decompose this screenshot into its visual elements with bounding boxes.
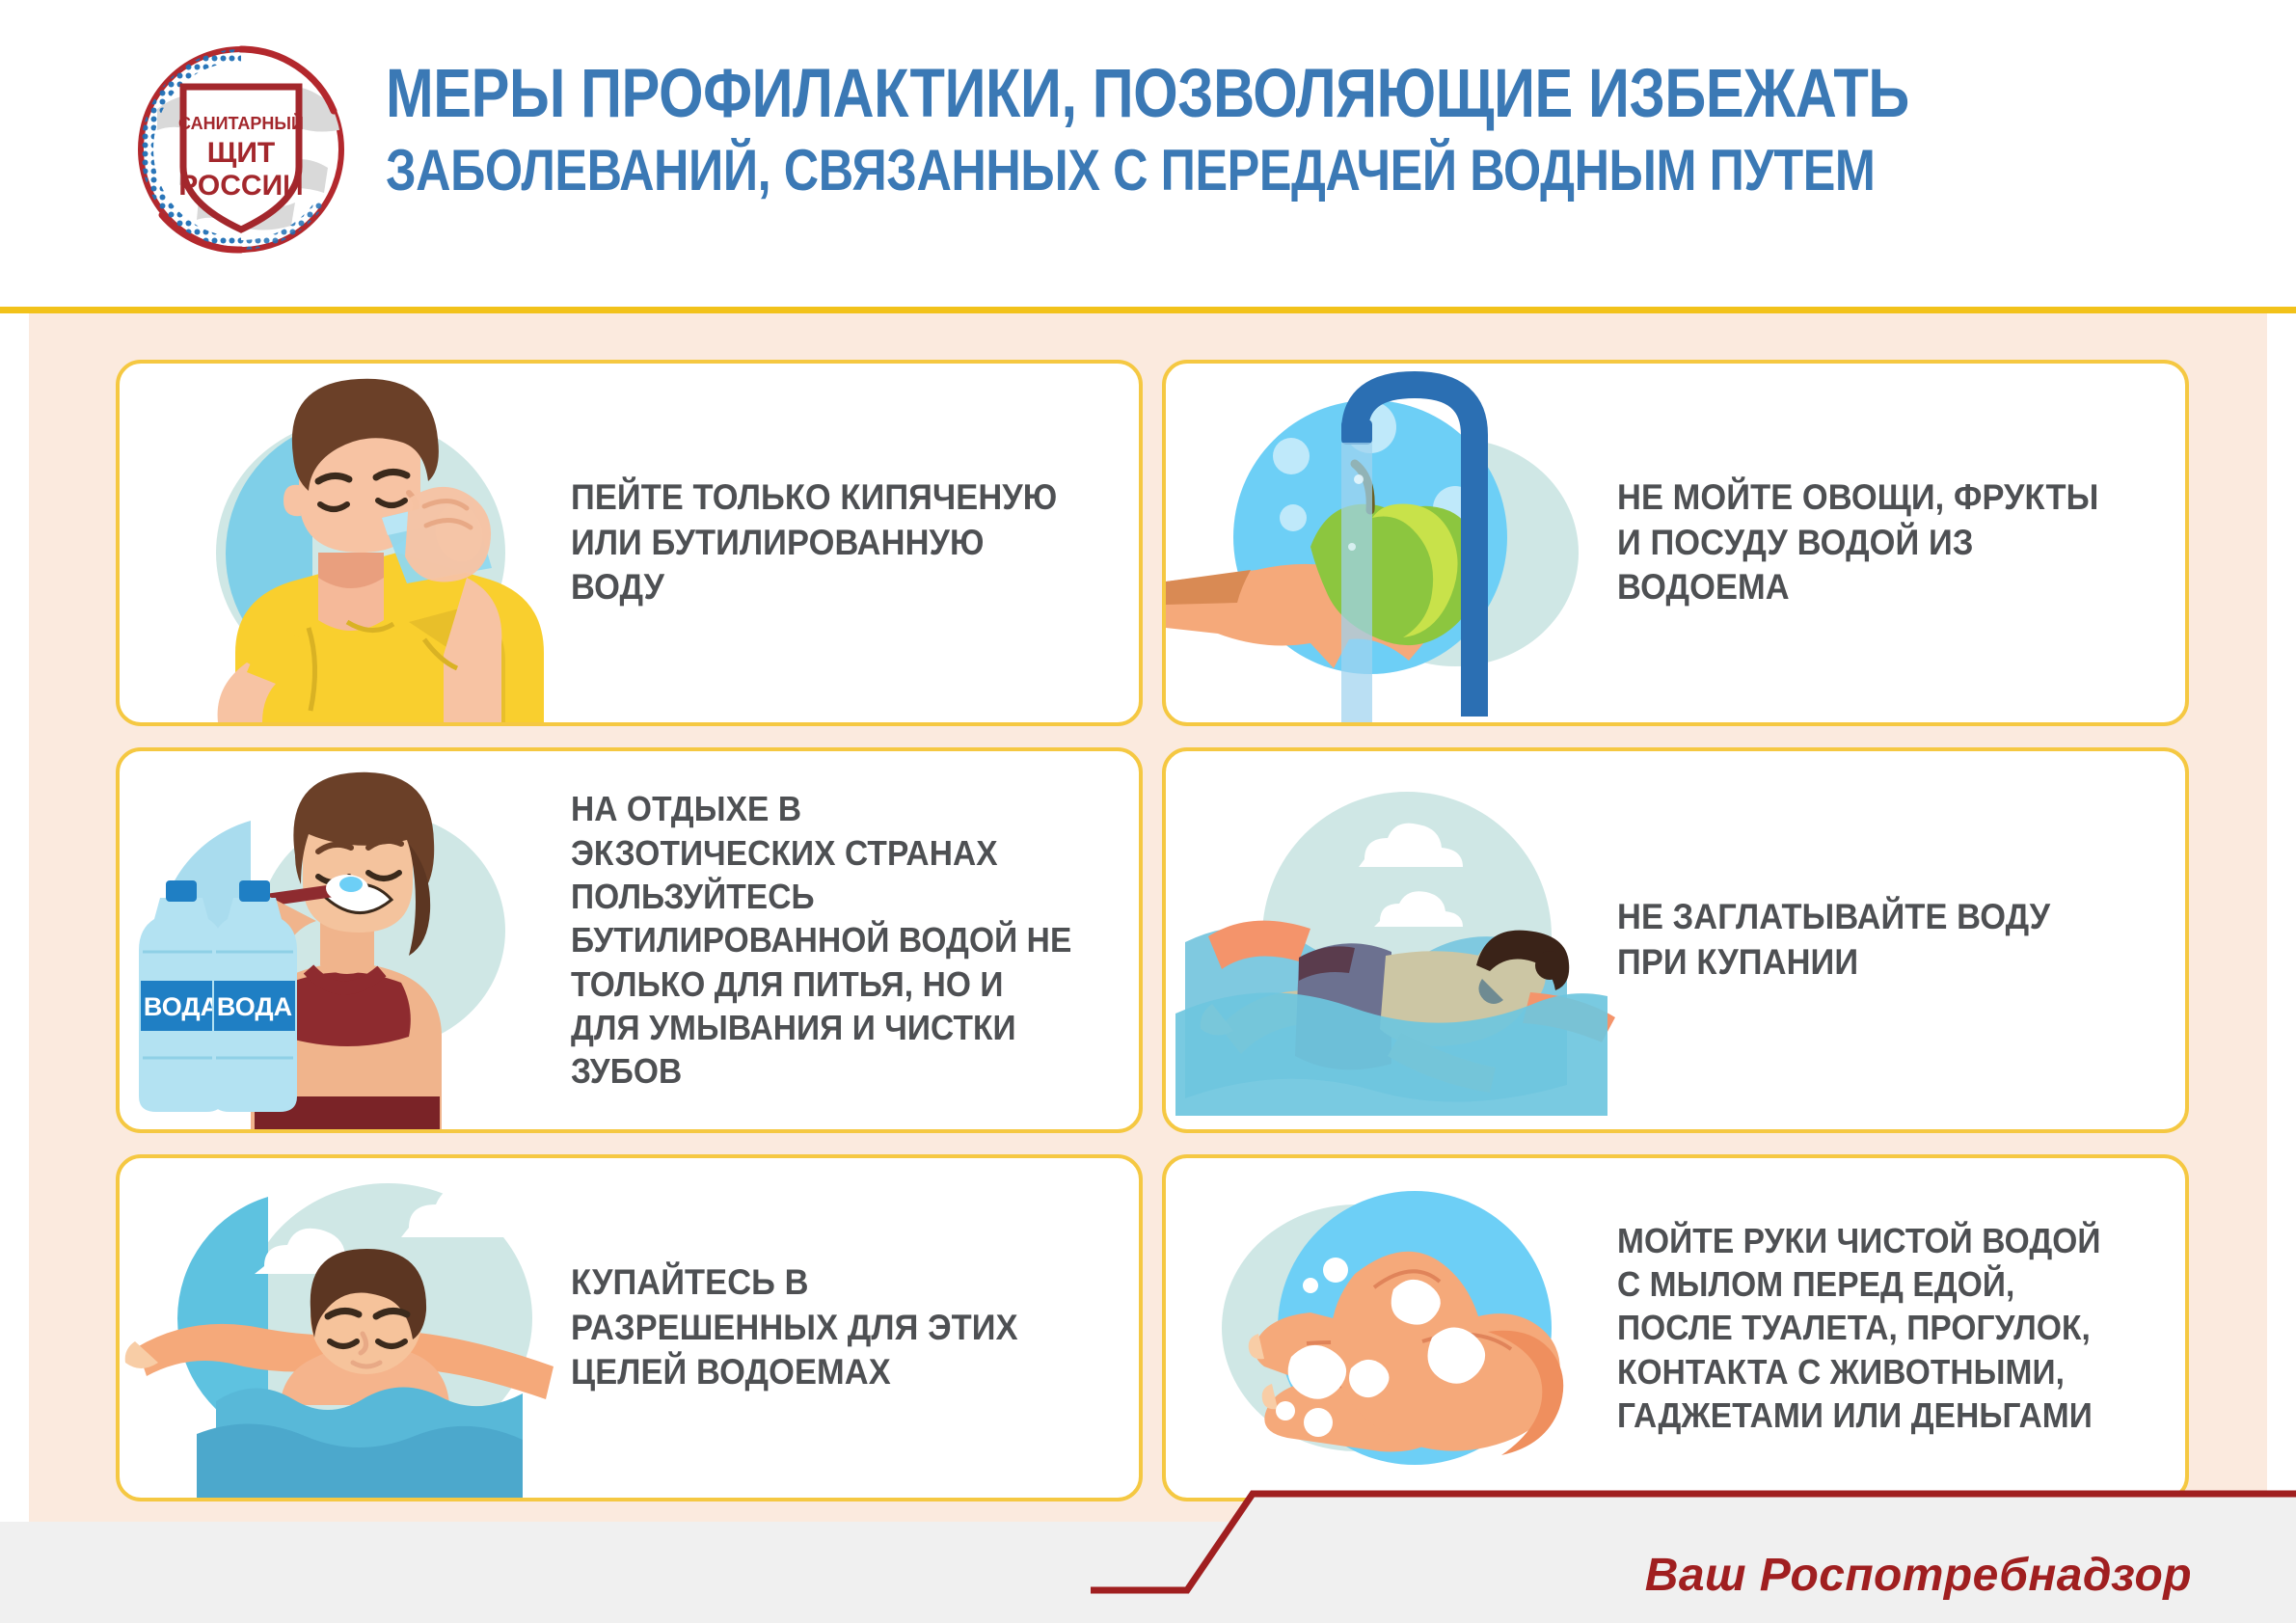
footer-band: Ваш Роспотребнадзор	[0, 1522, 2296, 1623]
bottle-label-1: ВОДА	[144, 992, 219, 1021]
advice-text-5: КУПАЙТЕСЬ В РАЗРЕШЕННЫХ ДЛЯ ЭТИХ ЦЕЛЕЙ В…	[571, 1260, 1099, 1395]
advice-text-4: НЕ ЗАГЛАТЫВАЙТЕ ВОДУ ПРИ КУПАНИИ	[1617, 895, 2146, 985]
poster-header: САНИТАРНЫЙ ЩИТ РОССИИ МЕРЫ ПРОФИЛАКТИКИ,…	[0, 0, 2296, 307]
advice-card-do-not-swallow-water: НЕ ЗАГЛАТЫВАЙТЕ ВОДУ ПРИ КУПАНИИ	[1162, 747, 2189, 1133]
logo-line2: ЩИТ	[207, 137, 275, 169]
footer-brand-text: Ваш Роспотребнадзор	[1645, 1549, 2192, 1602]
advice-text-2: НЕ МОЙТЕ ОВОЩИ, ФРУКТЫ И ПОСУДУ ВОДОЙ ИЗ…	[1617, 475, 2146, 610]
right-margin-stripe	[2267, 313, 2296, 1623]
advice-card-swim-in-permitted-waters: КУПАЙТЕСЬ В РАЗРЕШЕННЫХ ДЛЯ ЭТИХ ЦЕЛЕЙ В…	[116, 1154, 1143, 1501]
illustration-washing-hands	[1166, 1158, 1617, 1498]
logo-line1: САНИТАРНЫЙ	[178, 113, 304, 133]
infographic-poster: САНИТАРНЫЙ ЩИТ РОССИИ МЕРЫ ПРОФИЛАКТИКИ,…	[0, 0, 2296, 1623]
advice-card-drink-boiled-water: ПЕЙТЕ ТОЛЬКО КИПЯЧЕНУЮ ИЛИ БУТИЛИРОВАННУ…	[116, 360, 1143, 726]
advice-card-wash-hands-with-soap: МОЙТЕ РУКИ ЧИСТОЙ ВОДОЙ С МЫЛОМ ПЕРЕД ЕД…	[1162, 1154, 2189, 1501]
sanitary-shield-logo: САНИТАРНЫЙ ЩИТ РОССИИ	[123, 37, 360, 263]
illustration-butterfly-swimmer	[120, 1158, 571, 1498]
left-margin-stripe	[0, 313, 29, 1623]
illustration-freestyle-swimmer	[1166, 751, 1617, 1129]
title-line-2: ЗАБОЛЕВАНИЙ, СВЯЗАННЫХ С ПЕРЕДАЧЕЙ ВОДНЫ…	[386, 141, 1925, 200]
logo-line3: РОССИИ	[178, 170, 303, 202]
illustration-apple-under-tap	[1166, 364, 1617, 722]
cards-panel: ПЕЙТЕ ТОЛЬКО КИПЯЧЕНУЮ ИЛИ БУТИЛИРОВАННУ…	[0, 313, 2296, 1623]
advice-text-6: МОЙТЕ РУКИ ЧИСТОЙ ВОДОЙ С МЫЛОМ ПЕРЕД ЕД…	[1617, 1219, 2146, 1438]
bottle-label-2: ВОДА	[217, 992, 292, 1021]
advice-card-bottled-water-abroad: ВОДА ВОДА НА ОТДЫХЕ В ЭКЗ	[116, 747, 1143, 1133]
illustration-woman-brushing-teeth: ВОДА ВОДА	[120, 751, 571, 1129]
advice-card-do-not-wash-produce: НЕ МОЙТЕ ОВОЩИ, ФРУКТЫ И ПОСУДУ ВОДОЙ ИЗ…	[1162, 360, 2189, 726]
header-divider	[0, 307, 2296, 313]
poster-title: МЕРЫ ПРОФИЛАКТИКИ, ПОЗВОЛЯЮЩИЕ ИЗБЕЖАТЬ …	[386, 60, 2218, 201]
title-line-1: МЕРЫ ПРОФИЛАКТИКИ, ПОЗВОЛЯЮЩИЕ ИЗБЕЖАТЬ	[386, 60, 1925, 129]
advice-card-grid: ПЕЙТЕ ТОЛЬКО КИПЯЧЕНУЮ ИЛИ БУТИЛИРОВАННУ…	[116, 360, 2189, 1501]
logo-graphic: САНИТАРНЫЙ ЩИТ РОССИИ	[123, 37, 360, 263]
illustration-man-drinking-water	[120, 364, 571, 722]
advice-text-1: ПЕЙТЕ ТОЛЬКО КИПЯЧЕНУЮ ИЛИ БУТИЛИРОВАННУ…	[571, 475, 1099, 610]
advice-text-3: НА ОТДЫХЕ В ЭКЗОТИЧЕСКИХ СТРАНАХ ПОЛЬЗУЙ…	[571, 787, 1099, 1094]
